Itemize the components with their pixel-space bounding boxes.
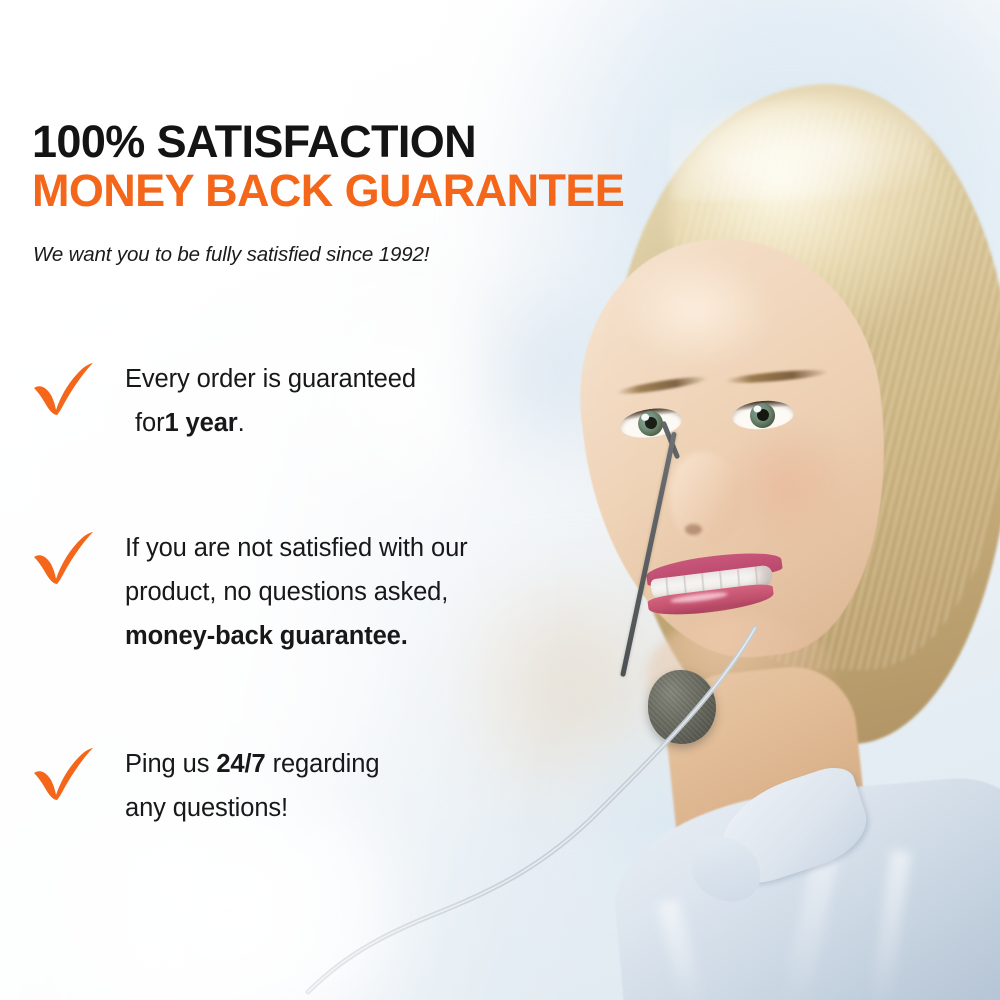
- bullet2-line1: If you are not satisfied with our: [125, 527, 468, 571]
- orange-checkmark-icon: [32, 747, 94, 801]
- guarantee-banner: 100% SATISFACTION MONEY BACK GUARANTEE W…: [0, 0, 1000, 1000]
- orange-checkmark-icon: [32, 531, 94, 585]
- subheadline: We want you to be fully satisfied since …: [33, 243, 429, 267]
- headline-satisfaction: 100% SATISFACTION: [32, 118, 624, 166]
- bullet1-line2-prefix: for: [125, 402, 164, 446]
- bullet1-line1: Every order is guaranteed: [125, 358, 416, 402]
- bullet1-line2-suffix: .: [238, 409, 245, 437]
- list-item-text: If you are not satisfied with our produc…: [125, 527, 468, 659]
- bullet1-line2: for 1 year.: [125, 402, 416, 446]
- headline-money-back-guarantee: MONEY BACK GUARANTEE: [32, 166, 624, 216]
- banner-content: 100% SATISFACTION MONEY BACK GUARANTEE W…: [0, 0, 1000, 1000]
- headline-block: 100% SATISFACTION MONEY BACK GUARANTEE: [32, 118, 624, 216]
- orange-checkmark-icon: [32, 362, 94, 416]
- bullet2-line3-bold: money-back guarantee.: [125, 622, 408, 650]
- bullet3-line2: any questions!: [125, 787, 379, 831]
- list-item-text: Ping us 24/7 regarding any questions!: [125, 743, 379, 831]
- list-item-text: Every order is guaranteed for 1 year.: [125, 358, 416, 446]
- bullet1-line2-bold: 1 year: [164, 409, 237, 437]
- bullet2-line3: money-back guarantee.: [125, 615, 468, 659]
- bullet3-line1-prefix: Ping us: [125, 750, 216, 778]
- bullet3-line1-suffix: regarding: [266, 750, 380, 778]
- bullet3-line1: Ping us 24/7 regarding: [125, 743, 379, 787]
- bullet2-line2: product, no questions asked,: [125, 571, 468, 615]
- bullet3-line1-bold: 24/7: [216, 750, 265, 778]
